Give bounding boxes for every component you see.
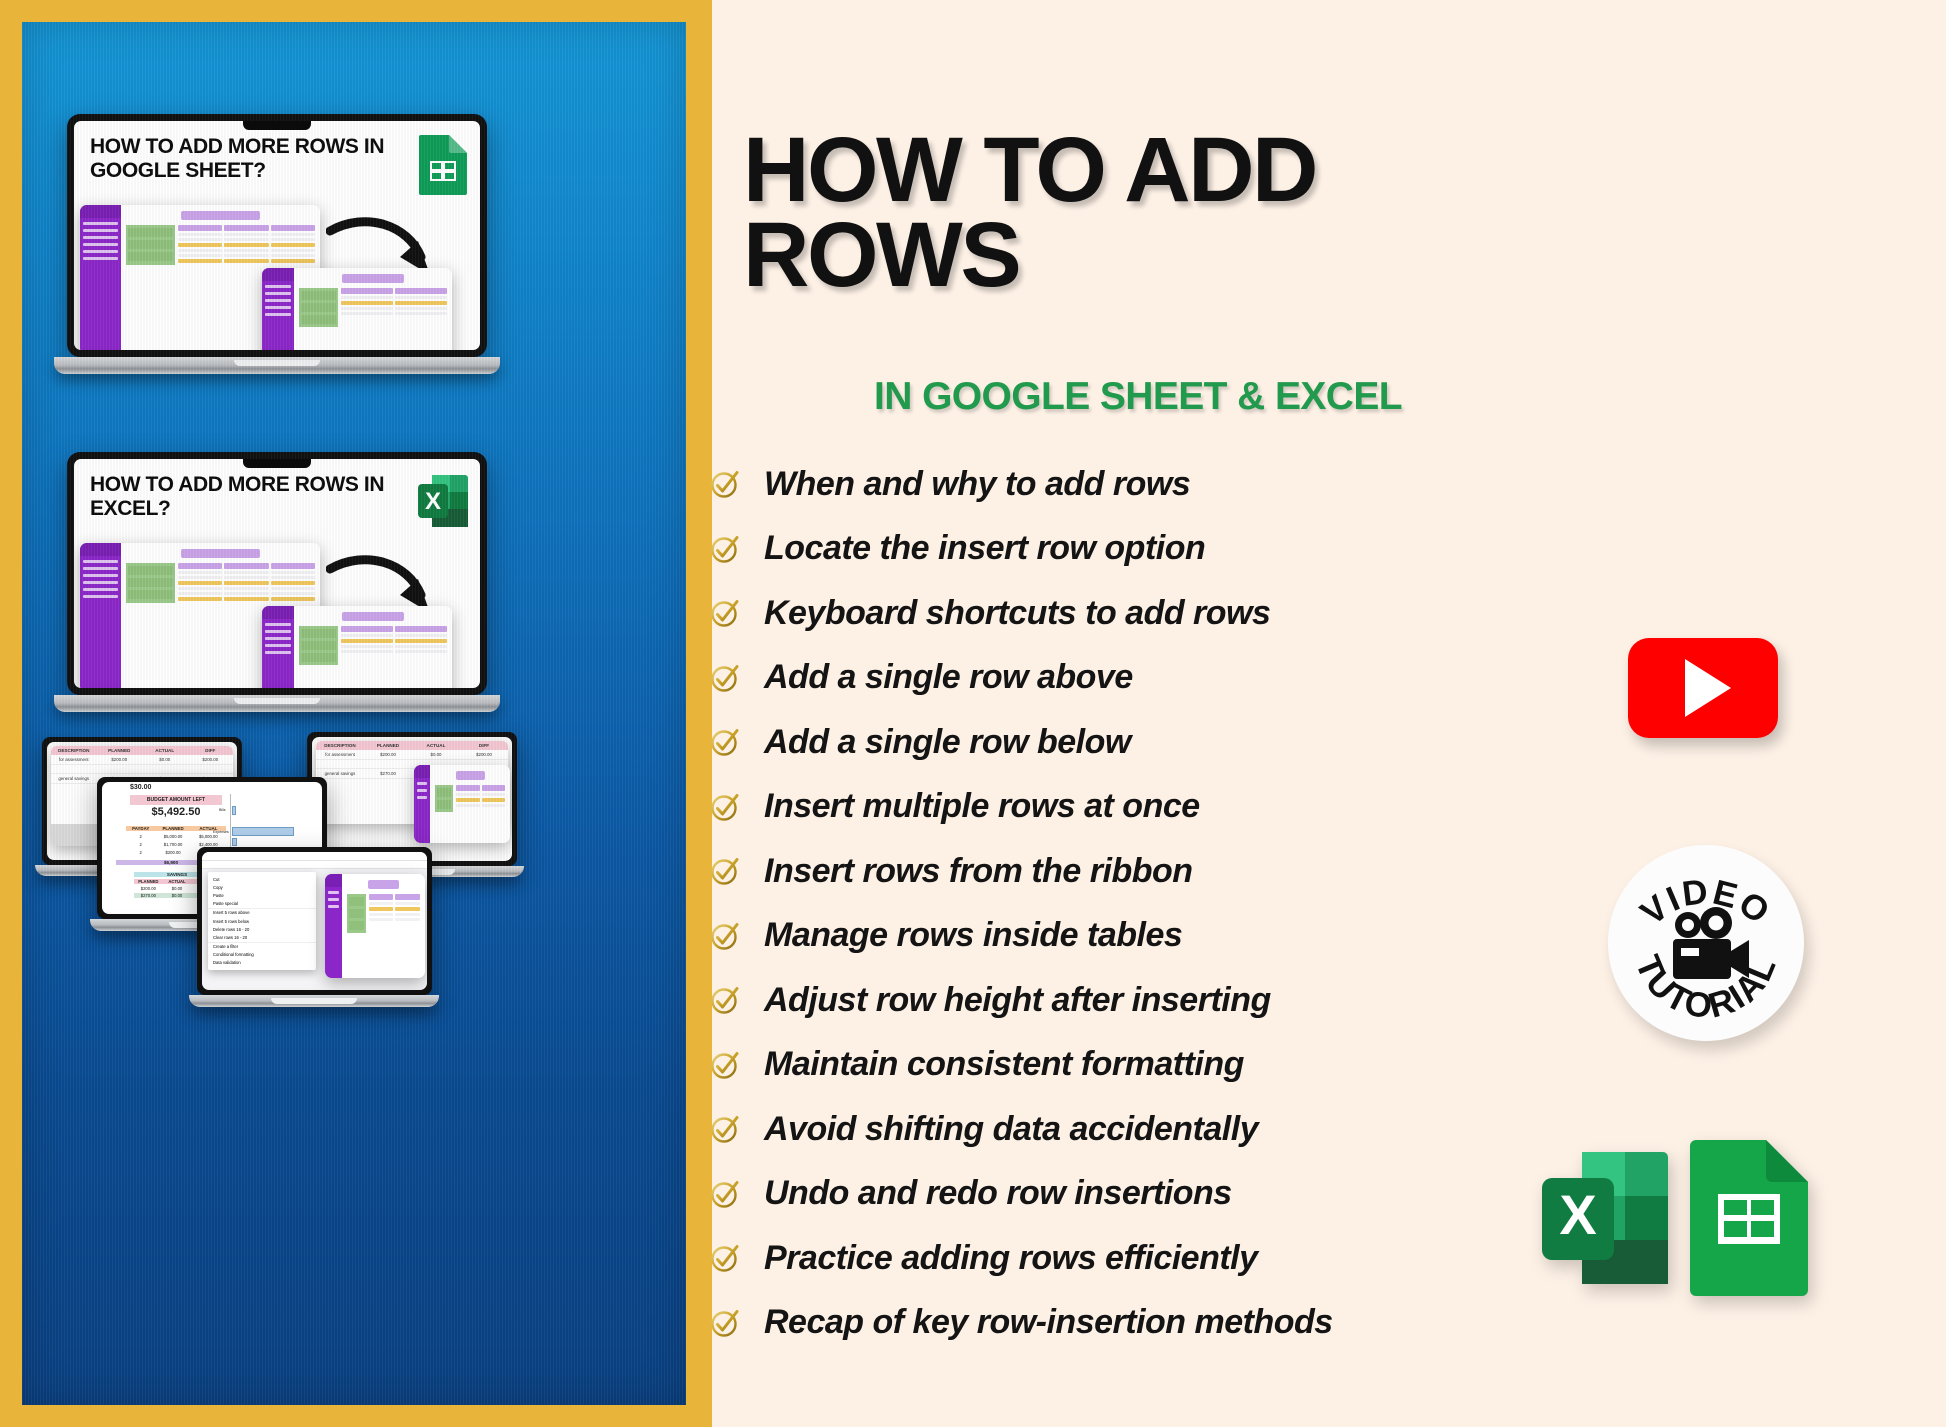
spreadsheet-preview-small	[262, 268, 452, 350]
laptop-mockup-context-menu: Cut Copy Paste Paste special Insert 5 ro…	[197, 847, 432, 1007]
list-item-label: Manage rows inside tables	[764, 916, 1182, 955]
laptop-notch	[243, 459, 311, 468]
laptop-base	[189, 995, 439, 1007]
excel-icon: X	[416, 471, 472, 531]
check-circle-icon	[702, 1306, 748, 1340]
check-circle-icon	[702, 983, 748, 1017]
play-triangle-icon	[1685, 659, 1731, 717]
excel-logo: X	[1540, 1140, 1675, 1300]
list-item-label: Avoid shifting data accidentally	[764, 1110, 1258, 1149]
sheet-sidebar	[80, 543, 121, 688]
list-item: Keyboard shortcuts to add rows	[712, 581, 1572, 646]
laptop-mockup-google-sheets: HOW TO ADD MORE ROWS IN GOOGLE SHEET?	[67, 114, 487, 374]
check-circle-icon	[702, 725, 748, 759]
list-item-label: Insert multiple rows at once	[764, 787, 1200, 826]
col-diff: DIFF	[188, 746, 234, 755]
table-row: for assessment $200.00 $0.00 $200.00	[316, 750, 508, 760]
svg-text:X: X	[1559, 1183, 1596, 1246]
sheet-title-bar	[181, 211, 260, 220]
menu-item[interactable]: Data validation	[208, 959, 316, 967]
check-circle-icon	[702, 1048, 748, 1082]
list-item-label: Locate the insert row option	[764, 529, 1205, 568]
list-item: Manage rows inside tables	[712, 904, 1572, 969]
check-circle-icon	[702, 1112, 748, 1146]
menu-item[interactable]: Conditional formatting	[208, 951, 316, 959]
page-subtitle: IN GOOGLE SHEET & EXCEL	[758, 375, 1518, 419]
google-sheets-logo	[1688, 1134, 1813, 1299]
check-circle-icon	[702, 854, 748, 888]
list-item-label: Maintain consistent formatting	[764, 1045, 1244, 1084]
list-item: Maintain consistent formatting	[712, 1033, 1572, 1098]
video-tutorial-badge[interactable]: VIDEO TUTORIAL	[1608, 845, 1804, 1041]
check-circle-icon	[702, 919, 748, 953]
youtube-play-button[interactable]	[1628, 638, 1778, 738]
list-item-label: Add a single row above	[764, 658, 1133, 697]
list-item-label: Undo and redo row insertions	[764, 1174, 1232, 1213]
list-item: Avoid shifting data accidentally	[712, 1097, 1572, 1162]
check-circle-icon	[702, 1177, 748, 1211]
list-item: Locate the insert row option	[712, 517, 1572, 582]
budget-left-value: $5,492.50	[130, 806, 222, 818]
check-circle-icon	[702, 1241, 748, 1275]
app-logos-group: X	[1540, 1132, 1810, 1302]
menu-item[interactable]: Delete rows 16 - 20	[208, 925, 316, 933]
list-item: Adjust row height after inserting	[712, 968, 1572, 1033]
page-title: HOW TO ADD ROWS	[743, 128, 1443, 297]
budget-table-header: DESCRIPTION PLANNED ACTUAL DIFF	[316, 741, 508, 750]
menu-item[interactable]: Copy	[208, 883, 316, 891]
sheet-title-bar	[342, 274, 404, 283]
table-row	[51, 765, 233, 774]
menu-item[interactable]: Paste	[208, 891, 316, 899]
feature-list: When and why to add rows Locate the inse…	[712, 452, 1572, 1355]
col-planned: PLANNED	[97, 746, 143, 755]
list-item: When and why to add rows	[712, 452, 1572, 517]
col-actual: ACTUAL	[142, 746, 188, 755]
blue-backdrop: HOW TO ADD MORE ROWS IN GOOGLE SHEET?	[22, 22, 686, 1405]
list-item-label: Recap of key row-insertion methods	[764, 1303, 1333, 1342]
title-line-2: ROWS	[743, 213, 1443, 298]
svg-text:X: X	[425, 488, 441, 515]
list-item: Practice adding rows efficiently	[712, 1226, 1572, 1291]
col-description: DESCRIPTION	[51, 746, 97, 755]
list-item-label: When and why to add rows	[764, 465, 1190, 504]
sheet-title-bar	[181, 549, 260, 558]
menu-item-insert-rows-above[interactable]: Insert 5 rows above	[208, 909, 316, 917]
list-item-label: Keyboard shortcuts to add rows	[764, 594, 1270, 633]
check-circle-icon	[702, 790, 748, 824]
list-item: Insert multiple rows at once	[712, 775, 1572, 840]
spreadsheet-preview-small	[414, 765, 510, 843]
sheet-title-bar	[368, 880, 399, 889]
table-row: for assessment $200.00 $0.00 $200.00	[51, 755, 233, 765]
laptop-mockup-excel: HOW TO ADD MORE ROWS IN EXCEL? X	[67, 452, 487, 712]
list-item-label: Add a single row below	[764, 723, 1131, 762]
laptop-notch	[243, 121, 311, 130]
list-item: Undo and redo row insertions	[712, 1162, 1572, 1227]
sheet-context-menu[interactable]: Cut Copy Paste Paste special Insert 5 ro…	[208, 872, 316, 970]
list-item-label: Insert rows from the ribbon	[764, 852, 1193, 891]
menu-item[interactable]: Paste special	[208, 900, 316, 909]
laptop-base	[54, 357, 500, 374]
check-circle-icon	[702, 532, 748, 566]
menu-item-insert-rows-below[interactable]: Insert 5 rows below	[208, 917, 316, 925]
list-item-label: Practice adding rows efficiently	[764, 1239, 1258, 1278]
check-circle-icon	[702, 596, 748, 630]
spreadsheet-preview-small	[325, 874, 425, 978]
spreadsheet-preview-small	[262, 606, 452, 688]
sheet-sidebar	[262, 268, 294, 350]
sheet-sidebar	[80, 205, 121, 350]
left-showcase-panel: HOW TO ADD MORE ROWS IN GOOGLE SHEET?	[0, 0, 712, 1427]
laptop-base	[54, 695, 500, 712]
list-item: Add a single row below	[712, 710, 1572, 775]
menu-item[interactable]: Create a filter	[208, 943, 316, 951]
list-item-label: Adjust row height after inserting	[764, 981, 1271, 1020]
google-sheets-icon	[416, 133, 470, 195]
menu-item[interactable]: Cut	[208, 875, 316, 883]
menu-item[interactable]: Clear rows 16 - 20	[208, 933, 316, 942]
sheet-title-bar	[342, 612, 404, 621]
sheet-sidebar	[262, 606, 294, 688]
right-content-panel: HOW TO ADD ROWS IN GOOGLE SHEET & EXCEL …	[712, 0, 1946, 1427]
title-line-1: HOW TO ADD	[743, 128, 1443, 213]
check-circle-icon	[702, 661, 748, 695]
list-item: Add a single row above	[712, 646, 1572, 711]
check-circle-icon	[702, 467, 748, 501]
budget-table-header: DESCRIPTION PLANNED ACTUAL DIFF	[51, 746, 233, 755]
budget-left-label: BUDGET AMOUNT LEFT	[130, 795, 222, 805]
list-item: Insert rows from the ribbon	[712, 839, 1572, 904]
list-item: Recap of key row-insertion methods	[712, 1291, 1572, 1356]
